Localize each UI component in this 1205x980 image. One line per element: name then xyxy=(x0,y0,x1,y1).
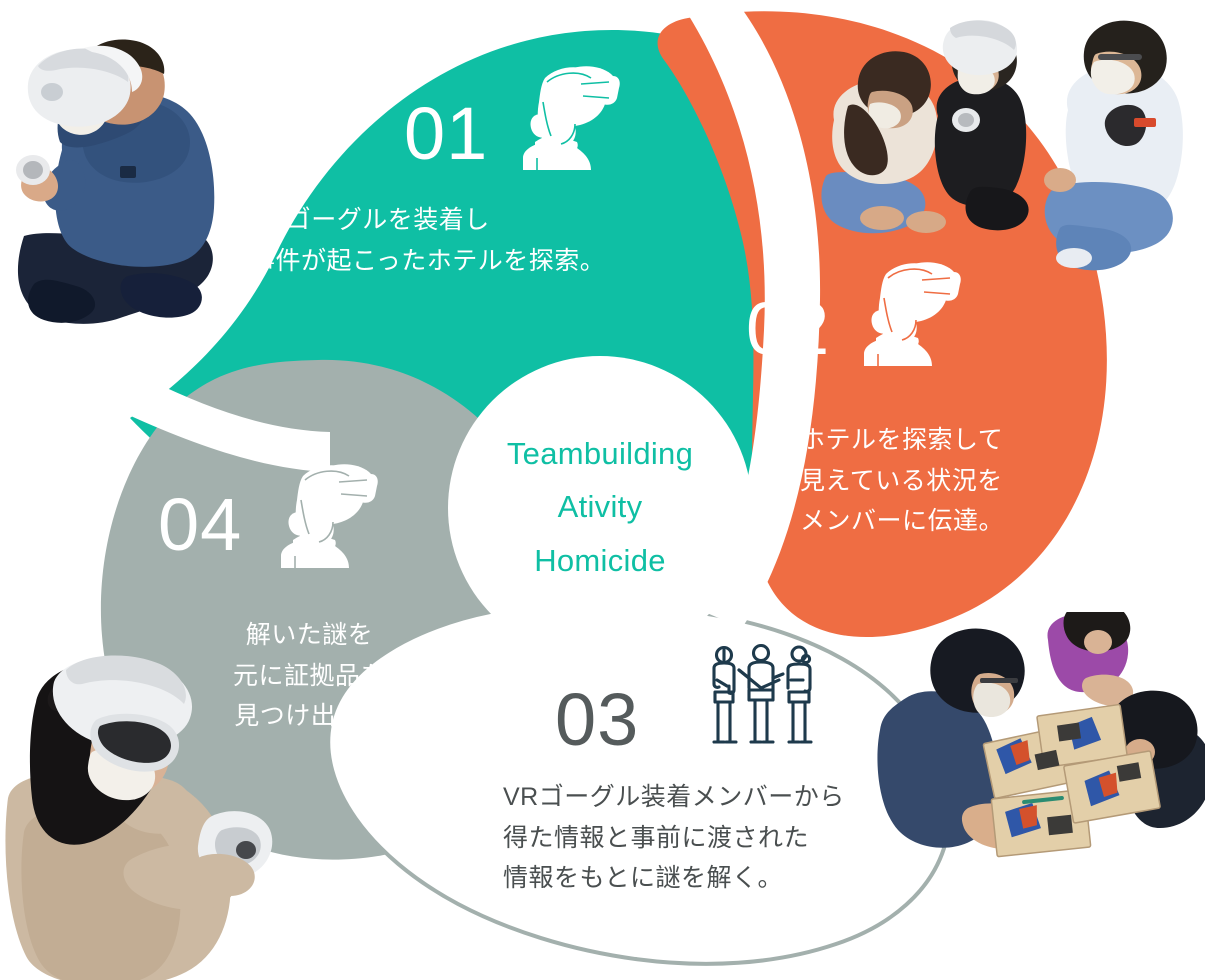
step-number-04: 04 xyxy=(158,488,242,562)
infographic-canvas: 01 02 03 04 VRゴーグルを装着し 事件が起こったホテルを探索。 ホテ… xyxy=(0,0,1205,980)
step-04-description: 解いた謎を 元に証拠品を 見つけ出す。 xyxy=(233,615,386,737)
center-title-line-3: Homicide xyxy=(455,534,745,587)
step-number-01: 01 xyxy=(404,97,488,171)
step-01-line-2: 事件が起こったホテルを探索。 xyxy=(250,241,605,282)
photo-group-reading-documents xyxy=(872,612,1205,912)
photo-three-people-kneeling xyxy=(812,0,1205,282)
step-04-line-1: 解いた謎を xyxy=(233,615,386,656)
step-02-line-2: 見えている状況を xyxy=(800,461,1004,502)
center-title-line-1: Teambuilding xyxy=(455,427,745,480)
step-02-line-1: ホテルを探索して xyxy=(800,420,1004,461)
photo-man-sitting-vr-headset xyxy=(0,22,262,342)
vr-headset-person-icon xyxy=(517,62,621,177)
step-01-description: VRゴーグルを装着し 事件が起こったホテルを探索。 xyxy=(250,200,605,281)
step-03-line-2: 得た情報と事前に渡された xyxy=(503,818,845,859)
step-03-line-1: VRゴーグル装着メンバーから xyxy=(503,777,845,818)
step-02-description: ホテルを探索して 見えている状況を メンバーに伝達。 xyxy=(800,420,1004,542)
step-number-02: 02 xyxy=(746,292,830,366)
center-title-line-2: Ativity xyxy=(455,480,745,533)
step-number-03: 03 xyxy=(555,683,639,757)
step-01-line-1: VRゴーグルを装着し xyxy=(250,200,605,241)
step-04-line-2: 元に証拠品を xyxy=(233,656,386,697)
step-03-description: VRゴーグル装着メンバーから 得た情報と事前に渡された 情報をもとに謎を解く。 xyxy=(503,777,845,899)
step-03-line-3: 情報をもとに謎を解く。 xyxy=(503,858,845,899)
vr-headset-person-icon xyxy=(858,258,962,373)
step-04-line-3: 見つけ出す。 xyxy=(233,696,386,737)
vr-headset-person-icon xyxy=(275,460,379,575)
step-02-line-3: メンバーに伝達。 xyxy=(800,501,1004,542)
center-title: Teambuilding Ativity Homicide xyxy=(455,427,745,587)
three-people-collaborating-icon xyxy=(703,640,819,763)
